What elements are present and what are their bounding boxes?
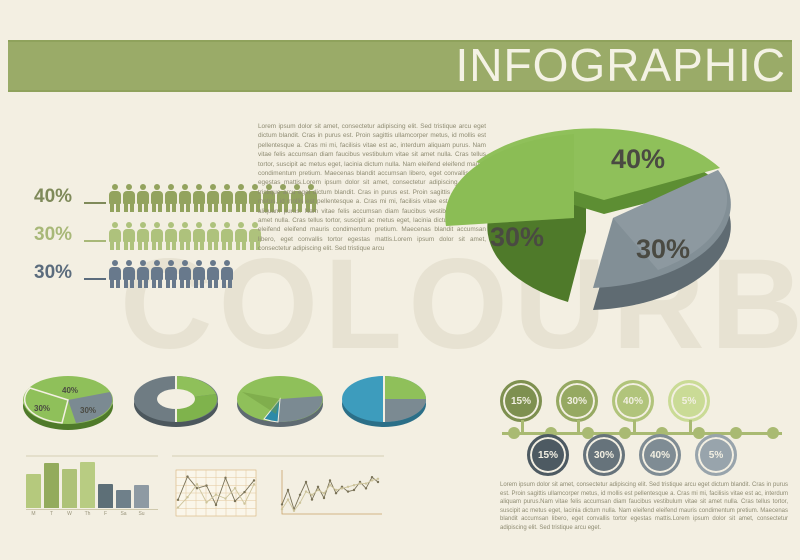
line-chart-point	[281, 508, 283, 510]
pie-label-30-right: 30%	[636, 234, 690, 265]
line-chart-point	[287, 498, 289, 500]
person-icon	[108, 222, 121, 250]
person-icon	[136, 184, 149, 212]
bar-chart-x-label: F	[98, 511, 113, 517]
line-chart-point	[323, 497, 325, 499]
line-chart-point	[329, 479, 331, 481]
person-icon	[150, 260, 163, 288]
bar-chart-x-label: Sa	[116, 511, 131, 517]
line-chart-point	[353, 484, 355, 486]
donut-hole	[157, 389, 195, 409]
mini-pie-chart-1: 40% 30% 30%	[18, 372, 118, 439]
line-chart-point	[243, 502, 245, 504]
bar-chart-bar	[116, 490, 131, 508]
stat-circle-gray: 30%	[583, 434, 625, 476]
line-chart-point	[243, 491, 245, 493]
main-pie-chart: 40% 30% 30%	[418, 100, 800, 345]
line-chart-point	[347, 486, 349, 488]
mini-pie-4-green	[384, 376, 426, 399]
person-icon	[192, 184, 205, 212]
line-chart-point	[305, 490, 307, 492]
bar-chart-bar	[44, 463, 59, 508]
line-chart-point	[177, 499, 179, 501]
line-chart-point	[353, 489, 355, 491]
line-chart-point	[377, 478, 379, 480]
bar-chart-x-label: T	[44, 511, 59, 517]
line-chart-point	[329, 484, 331, 486]
person-icon	[150, 222, 163, 250]
line-chart-point	[234, 487, 236, 489]
line-chart-point	[224, 497, 226, 499]
person-icon	[108, 260, 121, 288]
mini-pie-1-label-30b: 30%	[80, 406, 96, 415]
circle-stats-gray-row: 15%30%40%5%	[527, 434, 737, 476]
pie-label-30-left: 30%	[490, 222, 544, 253]
person-icon	[164, 222, 177, 250]
bar-chart-x-label: M	[26, 511, 41, 517]
person-icon	[108, 184, 121, 212]
bar-chart-bar	[62, 469, 77, 508]
person-icon	[192, 260, 205, 288]
line-chart-point	[347, 490, 349, 492]
mini-pie-1-label-40: 40%	[62, 386, 78, 395]
pictogram-row: 30%	[34, 252, 318, 288]
person-icon	[178, 222, 191, 250]
mini-donut-chart	[130, 372, 222, 439]
person-icon	[220, 184, 233, 212]
line-chart-point	[215, 493, 217, 495]
line-chart-point	[205, 484, 207, 486]
line-chart-series	[282, 479, 378, 511]
person-icon	[178, 184, 191, 212]
person-icon	[122, 260, 135, 288]
stat-circle-green: 30%	[556, 380, 598, 422]
bar-chart-top-rule	[26, 455, 158, 457]
person-icon	[122, 222, 135, 250]
line-chart-point	[186, 496, 188, 498]
pictogram-percent-label: 40%	[34, 182, 84, 212]
line-chart-point	[205, 501, 207, 503]
connector-dot	[767, 427, 779, 439]
stat-circle-green: 40%	[612, 380, 654, 422]
bar-chart-x-label: Su	[134, 511, 149, 517]
line-chart-with-grid	[172, 468, 260, 525]
line-chart-point	[224, 477, 226, 479]
circle-stats-green-row: 15%30%40%5%	[500, 380, 710, 422]
bar-chart: MTWThFSaSu	[26, 460, 158, 518]
line-chart-point	[234, 500, 236, 502]
line-chart-point	[365, 482, 367, 484]
line-chart-point	[293, 510, 295, 512]
line-chart-point	[371, 479, 373, 481]
line-chart-point	[287, 489, 289, 491]
line-chart-point	[323, 492, 325, 494]
pictogram-percent-label: 30%	[34, 220, 84, 250]
bar-chart-x-label: Th	[80, 511, 95, 517]
bar-chart-bar	[26, 474, 41, 508]
person-icon	[178, 260, 191, 288]
stat-circle-green: 15%	[500, 380, 542, 422]
person-icon	[206, 260, 219, 288]
bar-chart-bar	[98, 484, 113, 508]
pictogram-percent-label: 30%	[34, 258, 84, 288]
mini-pie-1-label-30a: 30%	[34, 404, 50, 413]
line-chart-point	[253, 479, 255, 481]
person-icon	[206, 184, 219, 212]
line-chart-point	[311, 494, 313, 496]
body-text-bottom-right: Lorem ipsum dolor sit amet, consectetur …	[500, 481, 788, 533]
line-chart-point	[377, 481, 379, 483]
pictogram-figure-group	[108, 260, 234, 288]
bar-chart-bar	[80, 462, 95, 508]
line-chart-point	[335, 492, 337, 494]
page-title: INFOGRAPHIC	[456, 40, 786, 92]
person-icon	[206, 222, 219, 250]
line-chart-point	[253, 483, 255, 485]
person-icon	[164, 260, 177, 288]
mini-pie-4-gray	[384, 399, 426, 422]
person-icon	[136, 222, 149, 250]
pictogram-leader-line	[84, 278, 106, 280]
connector-stem-up	[521, 420, 524, 434]
person-icon	[136, 260, 149, 288]
line-chart-plain	[276, 468, 384, 525]
line-chart-point	[196, 487, 198, 489]
person-icon	[192, 222, 205, 250]
pie-label-40: 40%	[611, 144, 665, 175]
person-icon	[234, 184, 247, 212]
line-chart-point	[317, 486, 319, 488]
line-chart-point	[299, 502, 301, 504]
pictogram-leader-line	[84, 240, 106, 242]
line-chart-point	[177, 506, 179, 508]
line-chart-point	[371, 476, 373, 478]
stat-circle-gray: 15%	[527, 434, 569, 476]
person-icon	[122, 184, 135, 212]
person-icon	[150, 184, 163, 212]
line-chart-top-rule	[172, 455, 384, 457]
bar-chart-bar	[134, 485, 149, 508]
line-chart-point	[365, 487, 367, 489]
infographic-page: COLOURBOX INFOGRAPHIC 40%30%30% Lorem ip…	[0, 0, 800, 560]
line-chart-series	[282, 477, 378, 509]
line-chart-point	[305, 481, 307, 483]
connector-stem-up	[689, 420, 692, 434]
person-icon	[220, 260, 233, 288]
person-icon	[164, 184, 177, 212]
stat-circle-green: 5%	[668, 380, 710, 422]
bar-chart-axis	[26, 509, 158, 510]
mini-pie-3-gray	[278, 396, 322, 422]
person-icon	[234, 222, 247, 250]
line-chart-point	[335, 489, 337, 491]
connector-stem-up	[577, 420, 580, 434]
line-chart-point	[317, 489, 319, 491]
stat-circle-gray: 5%	[695, 434, 737, 476]
line-chart-point	[196, 483, 198, 485]
stat-circle-gray: 40%	[639, 434, 681, 476]
line-chart-point	[215, 504, 217, 506]
line-chart-point	[311, 498, 313, 500]
line-chart-point	[299, 494, 301, 496]
connector-dot	[508, 427, 520, 439]
person-icon	[220, 222, 233, 250]
bar-chart-x-label: W	[62, 511, 77, 517]
mini-pie-chart-3	[232, 372, 328, 439]
line-chart-point	[341, 487, 343, 489]
line-chart-point	[281, 503, 283, 505]
mini-pie-chart-4	[338, 372, 430, 439]
line-chart-point	[186, 475, 188, 477]
connector-stem-up	[633, 420, 636, 434]
pictogram-leader-line	[84, 202, 106, 204]
pictogram-figure-group	[108, 222, 262, 250]
line-chart-point	[359, 482, 361, 484]
